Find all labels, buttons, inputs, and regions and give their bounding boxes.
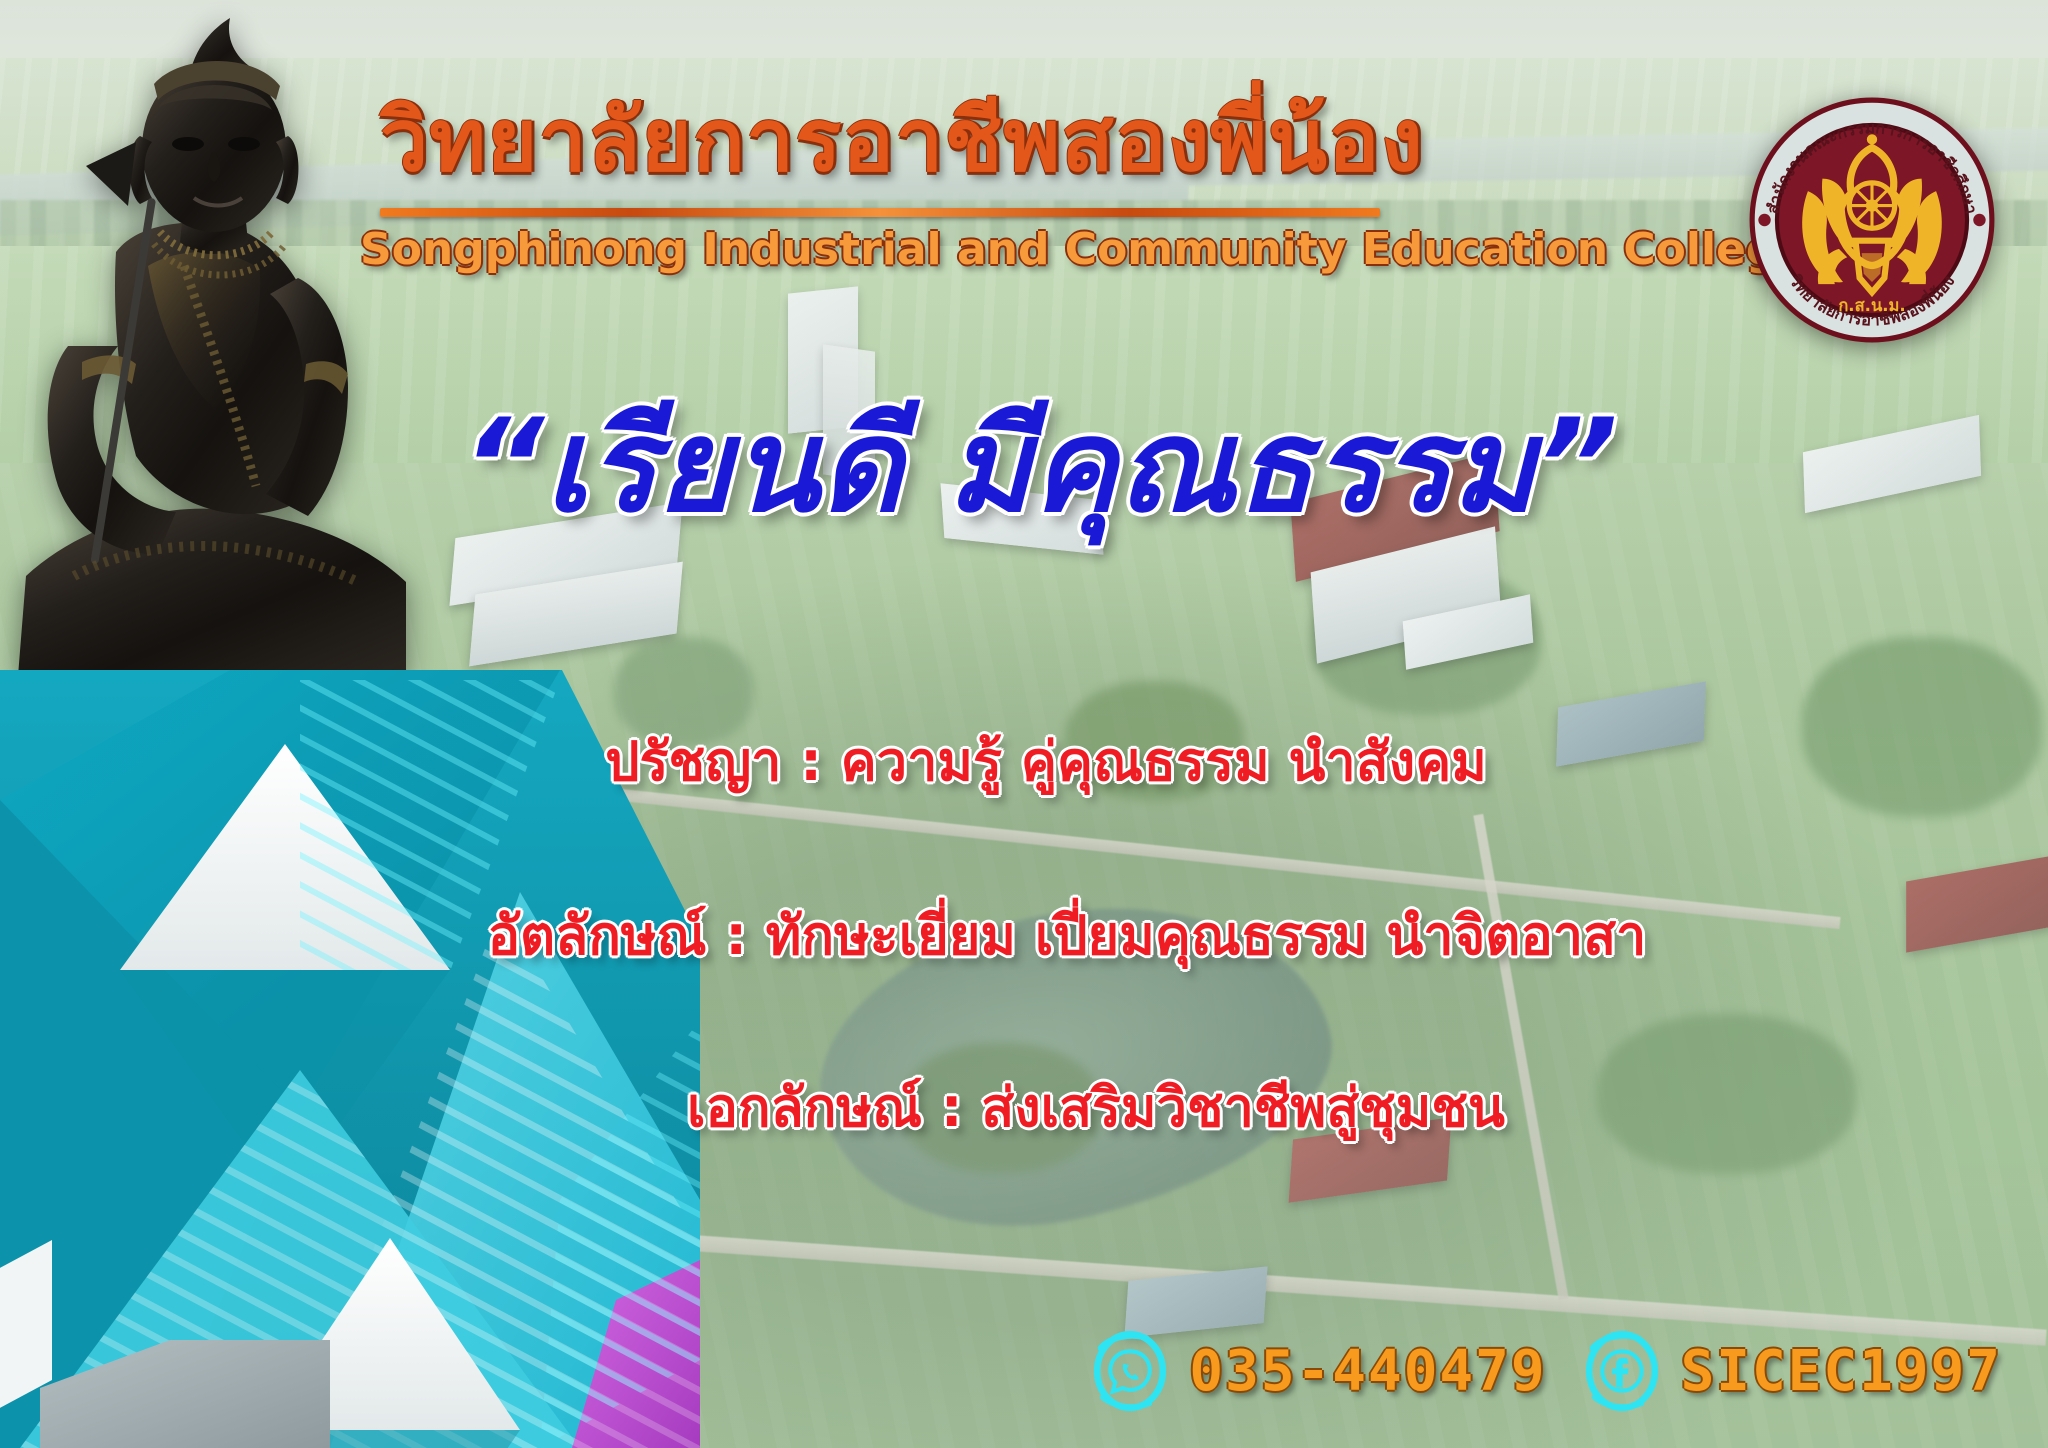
contact-facebook[interactable]: SICEC1997 <box>1581 1330 2002 1412</box>
phone-chat-icon <box>1089 1330 1171 1412</box>
contact-phone[interactable]: 035-440479 <box>1089 1330 1546 1412</box>
title-divider-rule <box>380 208 1380 217</box>
emblem-right-dot <box>1973 214 1985 226</box>
banner-canvas: วิทยาลัยการอาชีพสองพี่น้อง Songphinong I… <box>0 0 2048 1448</box>
statements-block: ปรัชญา : ความรู้ คู่คุณธรรม นำสังคม อัตล… <box>0 735 2048 1135</box>
statement-identity: อัตลักษณ์ : ทักษะเยี่ยม เปี่ยมคุณธรรม นำ… <box>86 909 2048 963</box>
facebook-handle-text: SICEC1997 <box>1681 1339 2002 1404</box>
college-slogan: “เรียนดี มีคุณธรรม” <box>330 400 1750 534</box>
emblem-abbreviation: ก.ส.น.ม. <box>1838 296 1905 315</box>
contact-bar: 035-440479 SICEC1997 <box>1089 1330 2002 1412</box>
emblem-left-dot <box>1758 214 1770 226</box>
statement-uniqueness: เอกลักษณ์ : ส่งเสริมวิชาชีพสู่ชุมชน <box>144 1081 2048 1135</box>
statement-philosophy: ปรัชญา : ความรู้ คู่คุณธรรม นำสังคม <box>44 735 2048 789</box>
college-emblem-logo: สำนักงานคณะกรรมการการอาชีวศึกษา วิทยาลัย… <box>1748 96 1996 344</box>
phone-number-text: 035-440479 <box>1189 1339 1546 1404</box>
facebook-icon <box>1581 1330 1663 1412</box>
banner-header: วิทยาลัยการอาชีพสองพี่น้อง Songphinong I… <box>0 0 2048 300</box>
college-english-title: Songphinong Industrial and Community Edu… <box>360 222 1380 277</box>
college-thai-title: วิทยาลัยการอาชีพสองพี่น้อง <box>380 98 1380 184</box>
